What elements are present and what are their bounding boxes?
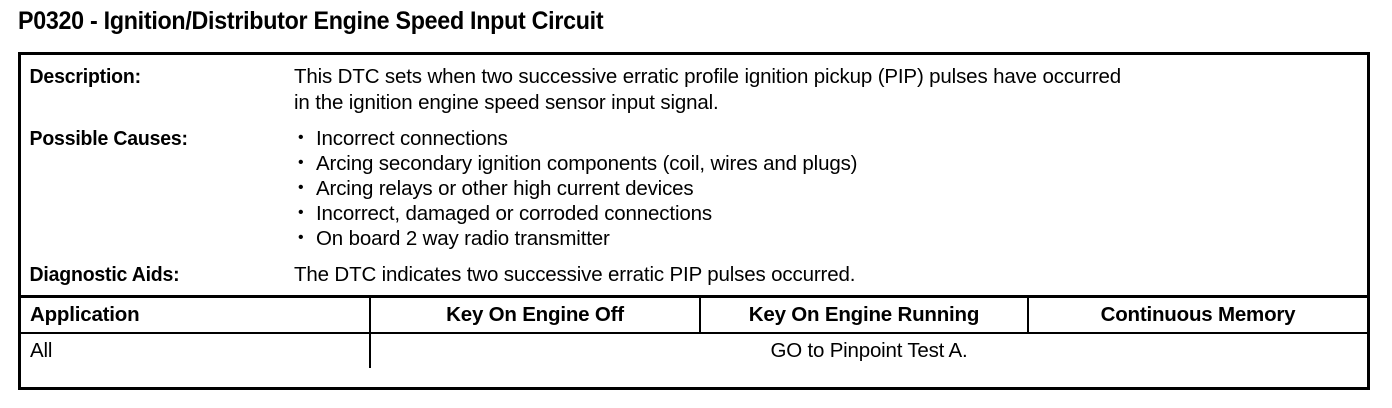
diagnostic-aids-text: The DTC indicates two successive erratic… — [294, 262, 1367, 288]
possible-causes-content: Incorrect connections Arcing secondary i… — [294, 126, 1367, 251]
list-item: Incorrect connections — [294, 126, 1359, 151]
dtc-page: P0320 - Ignition/Distributor Engine Spee… — [0, 0, 1392, 408]
column-header-key-on-engine-running: Key On Engine Running — [700, 297, 1028, 334]
cell-application: All — [21, 333, 370, 368]
possible-causes-row: Possible Causes: Incorrect connections A… — [21, 126, 1367, 251]
description-label: Description: — [21, 64, 280, 90]
dtc-info-block: Description: This DTC sets when two succ… — [21, 64, 1367, 288]
list-item: Arcing secondary ignition components (co… — [294, 151, 1359, 176]
cell-test-result: GO to Pinpoint Test A. — [370, 333, 1367, 368]
description-row: Description: This DTC sets when two succ… — [21, 64, 1367, 116]
description-content: This DTC sets when two successive errati… — [294, 64, 1367, 116]
list-item: Incorrect, damaged or corroded connectio… — [294, 201, 1359, 226]
description-line-1: This DTC sets when two successive errati… — [294, 64, 1359, 90]
description-line-2: in the ignition engine speed sensor inpu… — [294, 90, 1359, 116]
diagnostic-aids-row: Diagnostic Aids: The DTC indicates two s… — [21, 262, 1367, 288]
list-item: Arcing relays or other high current devi… — [294, 176, 1359, 201]
column-header-continuous-memory: Continuous Memory — [1028, 297, 1367, 334]
list-item: On board 2 way radio transmitter — [294, 226, 1359, 251]
column-header-application: Application — [21, 297, 370, 334]
diagnostic-aids-label: Diagnostic Aids: — [21, 262, 280, 288]
possible-causes-label: Possible Causes: — [21, 126, 280, 152]
page-title: P0320 - Ignition/Distributor Engine Spee… — [18, 6, 603, 36]
dtc-table: Description: This DTC sets when two succ… — [18, 52, 1370, 390]
table-header-row: Application Key On Engine Off Key On Eng… — [21, 297, 1367, 334]
possible-causes-list: Incorrect connections Arcing secondary i… — [294, 126, 1359, 251]
column-header-key-on-engine-off: Key On Engine Off — [370, 297, 700, 334]
table-row: All GO to Pinpoint Test A. — [21, 333, 1367, 368]
application-test-grid: Application Key On Engine Off Key On Eng… — [21, 295, 1367, 368]
